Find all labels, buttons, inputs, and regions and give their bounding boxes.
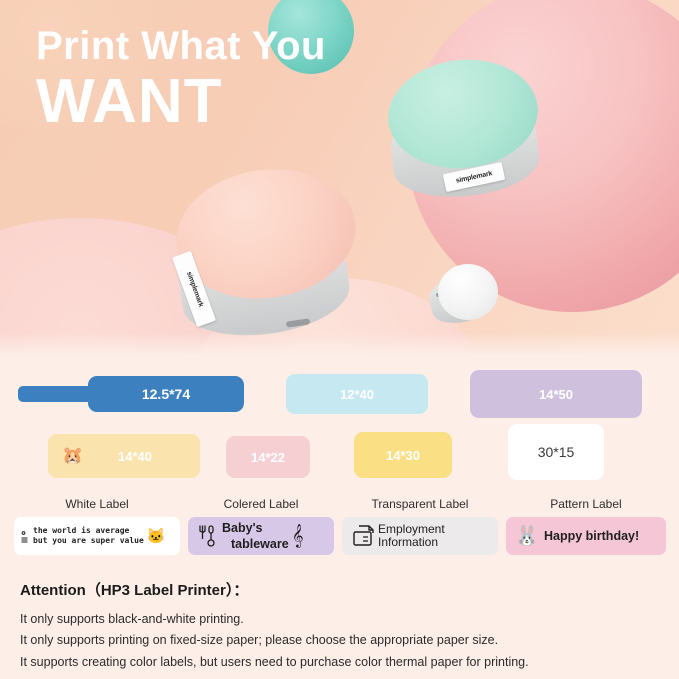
colered-label-text-line-2: tableware: [231, 537, 289, 551]
white-printer-lid: [438, 264, 498, 320]
colered-label-chip[interactable]: Baby's tableware 𝄞: [188, 517, 334, 555]
hero-headline-line-2: WANT: [36, 70, 326, 133]
size-tag-30x15-label: 30*15: [538, 444, 575, 460]
treble-clef-icon: 𝄞: [289, 525, 307, 548]
product-marketing-image: simplemark simplemark Print What You WAN…: [0, 0, 679, 679]
transparent-label-text: Employment Information: [378, 523, 445, 550]
hero-headline: Print What You WANT: [36, 26, 326, 133]
pink-printer: simplemark: [162, 168, 362, 340]
attention-section: Attention（HP3 Label Printer）： It only su…: [20, 583, 660, 673]
pattern-label-text: Happy birthday!: [544, 528, 639, 544]
size-tag-14x40[interactable]: 🐹 14*40: [48, 434, 200, 478]
hero-bottom-fade: [0, 332, 679, 358]
hero-headline-line-1: Print What You: [36, 26, 326, 66]
transparent-label-text-line-1: Employment: [378, 522, 445, 536]
label-categories: White Label the world is average but you…: [0, 498, 679, 570]
hero-banner: simplemark simplemark Print What You WAN…: [0, 0, 679, 358]
size-tag-14x30[interactable]: 14*30: [354, 432, 452, 478]
colered-label-text-line-1: Baby's: [222, 521, 263, 535]
cutlery-icon: [196, 524, 218, 548]
category-pattern-label-title: Pattern Label: [506, 498, 666, 510]
category-transparent-label-title: Transparent Label: [342, 498, 498, 510]
white-label-chip[interactable]: the world is average but you are super v…: [14, 517, 180, 555]
white-label-text: the world is average but you are super v…: [33, 526, 144, 546]
attention-line-3: It supports creating color labels, but u…: [20, 652, 660, 674]
category-pattern-label: Pattern Label 🐰 Happy birthday!: [506, 498, 666, 555]
transparent-label-chip[interactable]: Employment Information: [342, 517, 498, 555]
attention-line-2: It only supports printing on fixed-size …: [20, 630, 660, 652]
green-printer-brand-text: simplemark: [455, 170, 493, 185]
hamster-character-icon: 🐹: [62, 447, 83, 464]
size-tag-30x15[interactable]: 30*15: [508, 424, 604, 480]
category-transparent-label: Transparent Label Employment Information: [342, 498, 498, 555]
white-printer: [428, 262, 500, 334]
transparent-label-text-line-2: Information: [378, 535, 438, 549]
category-colered-label-title: Colered Label: [188, 498, 334, 510]
green-printer: simplemark: [382, 58, 550, 208]
attention-title: Attention（HP3 Label Printer）：: [20, 583, 660, 600]
size-tag-14x22-label: 14*22: [251, 450, 285, 465]
document-folder-icon: [350, 524, 378, 548]
attention-line-1: It only supports black-and-white printin…: [20, 609, 660, 631]
category-colered-label: Colered Label Baby's tableware 𝄞: [188, 498, 334, 555]
category-white-label-title: White Label: [14, 498, 180, 510]
size-tag-14x40-label: 14*40: [118, 449, 152, 464]
cat-doodle-icon: 🐱: [144, 527, 168, 545]
size-tag-12.5x74-label: 12.5*74: [142, 386, 190, 402]
white-label-text-line-1: the world is average: [33, 526, 129, 535]
size-tag-14x50[interactable]: 14*50: [470, 370, 642, 418]
pattern-label-chip[interactable]: 🐰 Happy birthday!: [506, 517, 666, 555]
size-tag-12x40-label: 12*40: [340, 387, 374, 402]
list-lines-icon: [20, 529, 33, 543]
bunny-with-flowers-icon: 🐰: [514, 524, 540, 548]
size-tag-14x50-label: 14*50: [539, 387, 573, 402]
category-white-label: White Label the world is average but you…: [14, 498, 180, 555]
size-tag-12x40[interactable]: 12*40: [286, 374, 428, 414]
size-tag-12.5x74[interactable]: 12.5*74: [88, 376, 244, 412]
colered-label-text: Baby's tableware: [222, 520, 289, 552]
size-tag-14x22[interactable]: 14*22: [226, 436, 310, 478]
white-label-text-line-2: but you are super value: [33, 536, 144, 545]
size-tag-14x30-label: 14*30: [386, 448, 420, 463]
